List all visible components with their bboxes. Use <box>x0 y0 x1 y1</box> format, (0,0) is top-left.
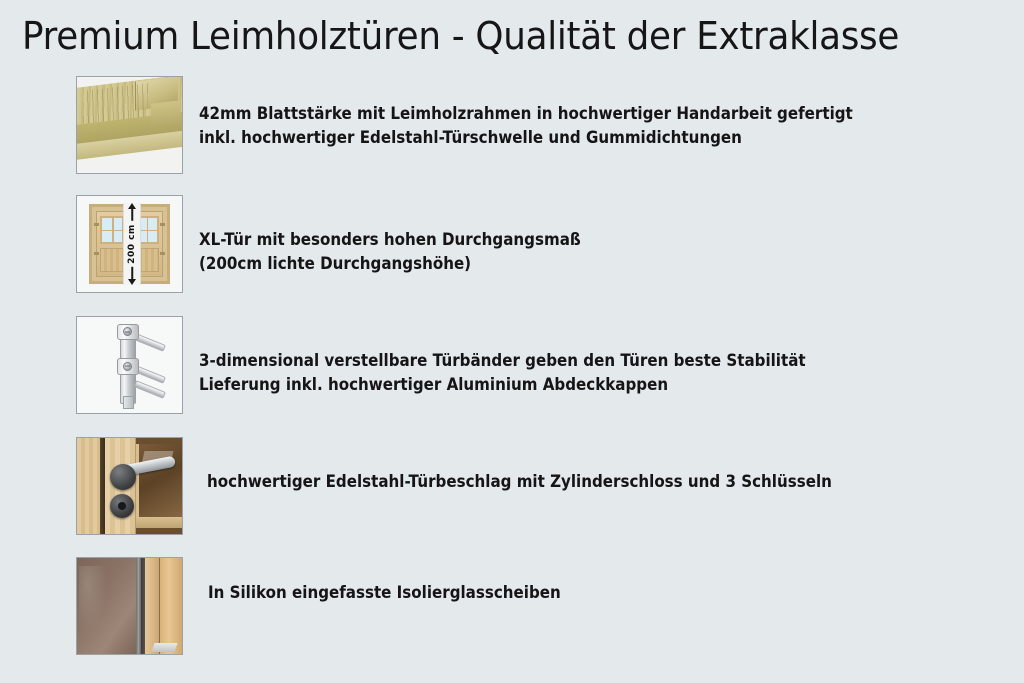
page-title: Premium Leimholztüren - Qualität der Ext… <box>22 14 899 58</box>
feature-3-thumbnail <box>76 316 183 414</box>
feature-3-text: 3-dimensional verstellbare Türbänder geb… <box>199 349 806 397</box>
feature-2-line-1: XL-Tür mit besonders hohen Durchgangsmaß <box>199 228 581 252</box>
feature-1-thumbnail <box>76 76 183 174</box>
feature-5-text: In Silikon eingefasste Isolierglasscheib… <box>208 581 561 605</box>
feature-1-line-2: inkl. hochwertiger Edelstahl-Türschwelle… <box>199 126 853 150</box>
feature-2-thumbnail: 200 cm <box>76 195 183 293</box>
feature-3-line-2: Lieferung inkl. hochwertiger Aluminium A… <box>199 373 806 397</box>
feature-1-text: 42mm Blattstärke mit Leimholzrahmen in h… <box>199 102 853 150</box>
feature-4-text: hochwertiger Edelstahl-Türbeschlag mit Z… <box>207 470 832 494</box>
xl-double-door-height-diagram: 200 cm <box>77 196 182 292</box>
feature-2-text: XL-Tür mit besonders hohen Durchgangsmaß… <box>199 228 581 276</box>
feature-1-line-1: 42mm Blattstärke mit Leimholzrahmen in h… <box>199 102 853 126</box>
feature-4-line-1: hochwertiger Edelstahl-Türbeschlag mit Z… <box>207 470 832 494</box>
handle-rosette <box>110 464 136 490</box>
feature-3-line-1: 3-dimensional verstellbare Türbänder geb… <box>199 349 806 373</box>
three-dimensional-adjustable-hinge-photo <box>77 317 182 413</box>
cylinder-lock <box>110 494 134 518</box>
feature-4-thumbnail <box>76 437 183 535</box>
feature-5-line-1: In Silikon eingefasste Isolierglasscheib… <box>208 581 561 605</box>
silicone-sealed-insulating-glass-photo <box>77 558 182 654</box>
product-feature-infographic: Premium Leimholztüren - Qualität der Ext… <box>0 0 1024 683</box>
stainless-steel-door-handle-photo <box>77 438 182 534</box>
feature-5-thumbnail <box>76 557 183 655</box>
door-height-dimension: 200 cm <box>123 203 141 286</box>
glued-timber-frame-corner-photo <box>77 77 182 173</box>
feature-2-line-2: (200cm lichte Durchgangshöhe) <box>199 252 581 276</box>
dimension-label: 200 cm <box>125 221 139 267</box>
